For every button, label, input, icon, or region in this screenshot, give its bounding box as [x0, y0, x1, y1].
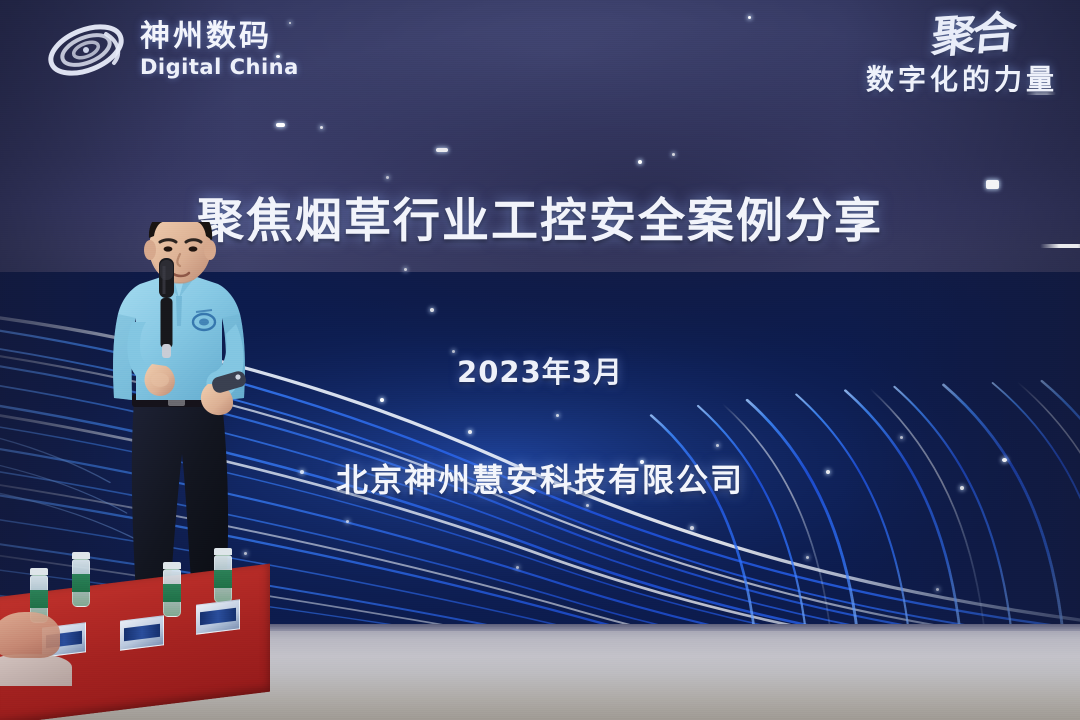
attendee-shoulder	[0, 654, 72, 686]
bottle-cap	[163, 562, 181, 569]
bottle-cap	[72, 552, 90, 559]
event-logo-mark: 聚合	[930, 13, 1014, 59]
bottle-label	[72, 574, 90, 592]
water-bottle	[72, 552, 90, 607]
speaker-figure	[96, 222, 280, 622]
bottle-label	[163, 584, 181, 602]
name-card-band	[124, 624, 160, 641]
water-bottle	[163, 562, 181, 617]
water-bottle	[214, 548, 232, 603]
conference-stage-photo: 聚焦烟草行业工控安全案例分享 2023年3月 北京神州慧安科技有限公司 神州数码	[0, 0, 1080, 720]
attendee-head	[0, 612, 60, 658]
bottle-cap	[30, 568, 48, 575]
bottle-body	[72, 559, 90, 607]
bottle-label	[30, 590, 48, 608]
bottle-cap	[214, 548, 232, 555]
name-card-band	[200, 608, 236, 625]
name-card	[120, 615, 164, 650]
swirl-spiral-icon	[44, 19, 128, 81]
digital-china-wordmark: 神州数码 Digital China	[140, 22, 299, 78]
bottle-body	[214, 555, 232, 603]
digital-china-logo: 神州数码 Digital China	[44, 19, 299, 81]
name-card	[196, 599, 240, 634]
bottle-body	[163, 569, 181, 617]
event-logo: 聚合 数字化的力量	[866, 16, 1058, 98]
brand-name-en: Digital China	[140, 57, 299, 78]
microphone-icon	[159, 258, 174, 358]
event-tagline: 数字化的力量	[866, 58, 1058, 98]
bottle-label	[214, 570, 232, 588]
brand-name-cn: 神州数码	[140, 22, 299, 52]
